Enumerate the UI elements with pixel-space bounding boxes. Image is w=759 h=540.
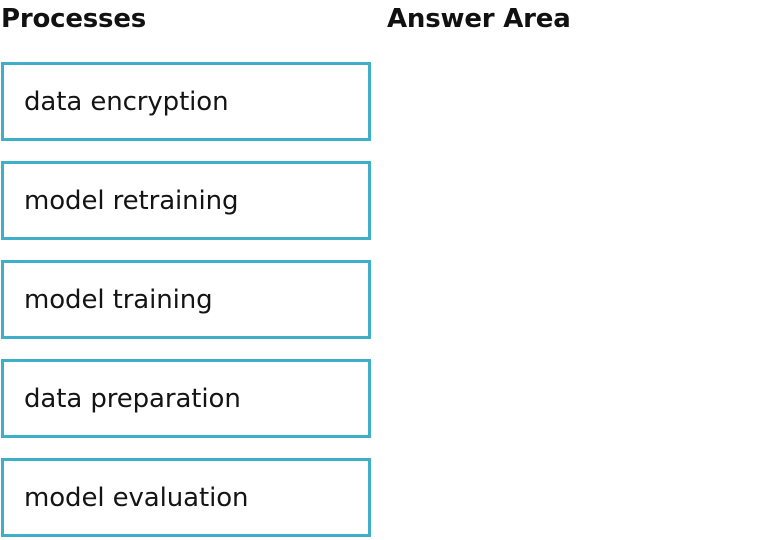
processes-column-header: Processes [1, 0, 146, 38]
processes-list: data encryption model retraining model t… [1, 62, 371, 537]
process-tile-label: model training [24, 285, 213, 315]
process-tile-model-training[interactable]: model training [1, 260, 371, 339]
process-tile-model-retraining[interactable]: model retraining [1, 161, 371, 240]
process-tile-label: model evaluation [24, 483, 248, 513]
process-tile-label: data encryption [24, 87, 228, 117]
answer-area-column-header: Answer Area [387, 0, 571, 38]
process-tile-data-encryption[interactable]: data encryption [1, 62, 371, 141]
answer-area-drop-zone[interactable] [387, 62, 757, 536]
process-tile-data-preparation[interactable]: data preparation [1, 359, 371, 438]
process-tile-model-evaluation[interactable]: model evaluation [1, 458, 371, 537]
process-tile-label: data preparation [24, 384, 241, 414]
process-tile-label: model retraining [24, 186, 238, 216]
